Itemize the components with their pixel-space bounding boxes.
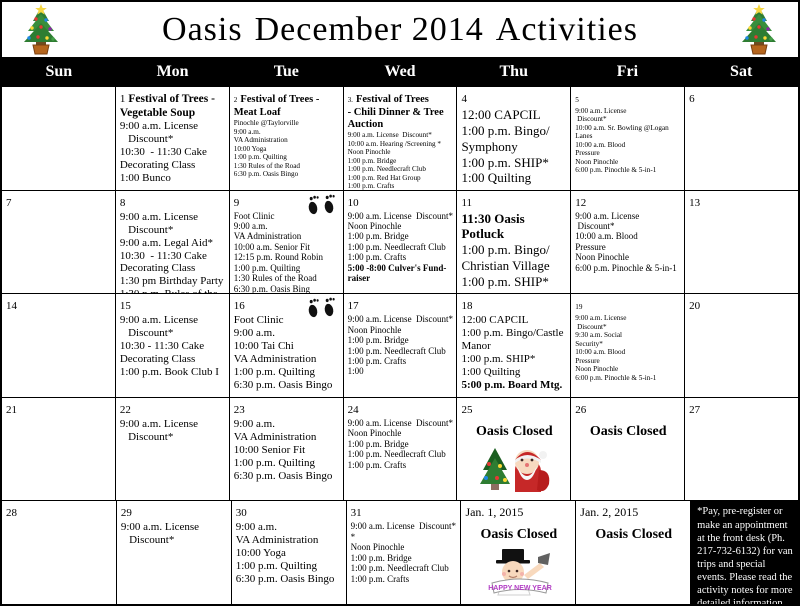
calendar-day-cell[interactable]: *Pay, pre-register or make an appointmen…: [691, 501, 798, 604]
day-event: 6:30 p.m. Oasis Bingo: [234, 379, 340, 392]
day-event: Noon Pinochle: [575, 365, 681, 373]
day-event: 1:30 pm Birthday Party: [120, 275, 226, 288]
calendar-day-cell[interactable]: 319:00 a.m. License Discount**Noon Pinoc…: [347, 501, 462, 604]
day-number: 16: [234, 300, 245, 312]
day-number: 25: [461, 404, 472, 416]
day-number: 23: [234, 404, 245, 416]
day-event-list: 9:00 a.m. License Discount*Noon Pinochle…: [348, 418, 454, 470]
day-event: 1:00: [348, 366, 454, 376]
day-event-list: 9:00 a.m. License Discount*: [120, 418, 226, 444]
calendar-day-cell[interactable]: 3.Festival of Trees - Chili Dinner & Tre…: [344, 87, 458, 190]
day-event: 5:00 -8:00 Culver's Fund-: [348, 263, 454, 273]
calendar-day-cell[interactable]: 7: [2, 191, 116, 294]
day-event: 6:30 p.m. Oasis Bing: [234, 284, 340, 294]
day-event: 1:00 p.m. SHIP*: [461, 353, 567, 366]
day-event: Discount*: [120, 431, 226, 444]
day-event: 1:00 p.m. Bridge: [348, 439, 454, 449]
day-event-list: 9:00 a.m. License Discount*10:00 a.m. Bl…: [575, 211, 681, 274]
day-event: Decorating Class: [120, 262, 226, 275]
day-event: 1:00 p.m. Quilting: [236, 560, 343, 573]
closed-label: Oasis Closed: [575, 424, 681, 440]
day-event: Noon Pinochle: [348, 325, 454, 335]
day-number: 30: [236, 507, 247, 519]
day-number: 6: [689, 93, 695, 105]
day-event: 9:00 a.m.: [236, 521, 343, 534]
day-event: 1:00 Bunco: [120, 172, 226, 185]
day-event: Discount*: [120, 133, 226, 146]
closed-label: Oasis Closed: [461, 424, 567, 440]
day-number: 5: [575, 96, 579, 104]
calendar-day-cell[interactable]: 179:00 a.m. License Discount*Noon Pinoch…: [344, 294, 458, 397]
calendar-week-row: 14159:00 a.m. License Discount*10:30 - 1…: [2, 294, 798, 398]
calendar-day-cell[interactable]: 16Foot Clinic9:00 a.m.10:00 Tai ChiVA Ad…: [230, 294, 344, 397]
calendar-day-cell[interactable]: 6: [685, 87, 798, 190]
calendar-day-cell[interactable]: 129:00 a.m. License Discount*10:00 a.m. …: [571, 191, 685, 294]
calendar-day-cell[interactable]: 109:00 a.m. License Discount*Noon Pinoch…: [344, 191, 458, 294]
day-event: 1:00 p.m. Needlecraft Club: [348, 242, 454, 252]
day-event: 5:00 p.m. Board Mtg.: [461, 379, 567, 392]
day-event: 1:00 p.m. Quilting: [234, 366, 340, 379]
calendar-day-cell[interactable]: 1111:30 Oasis Potluck1:00 p.m. Bingo/Chr…: [457, 191, 571, 294]
day-event: 1:00 Quilting: [461, 290, 567, 293]
calendar-day-cell[interactable]: 2Festival of Trees -Meat LoafPinochle @T…: [230, 87, 344, 190]
calendar-day-cell[interactable]: 159:00 a.m. License Discount*10:30 - 11:…: [116, 294, 230, 397]
day-heading-line: Festival of Trees: [356, 94, 429, 105]
page-title: OasisDecember 2014Activities: [162, 11, 638, 49]
day-event: 1:00 p.m. Needlecraft Club: [348, 449, 454, 459]
day-event-list: 12:00 CAPCIL1:00 p.m. Bingo/Symphony1:00…: [461, 107, 567, 186]
day-event: 1:00 p.m. Crafts: [348, 356, 454, 366]
day-event: 1:00 p.m. Bingo/Castle: [461, 327, 567, 340]
day-event: 6:00 p.m. Pinochle & 5-in-1: [575, 263, 681, 273]
title-part-org: Oasis: [162, 11, 243, 48]
day-event-list: 9:00 a.m. License Discount**Noon Pinochl…: [351, 521, 458, 584]
day-event: 9:00 a.m. License: [575, 107, 681, 115]
day-event: VA Administration: [234, 231, 340, 241]
day-event: Discount*: [121, 534, 228, 547]
day-event: 1:00 p.m. Crafts: [348, 460, 454, 470]
footprints-icon: [305, 296, 339, 322]
day-event: 1:30 Rules of the Road: [234, 162, 340, 170]
christmas-tree-icon: [732, 4, 786, 56]
day-event: 10:30 - 11:30 Cake: [120, 340, 226, 353]
calendar-day-cell[interactable]: 26Oasis Closed: [571, 398, 685, 501]
day-event: 9:00 a.m.: [234, 418, 340, 431]
day-event-list: 9:00 a.m.VA Administration10:00 Yoga1:00…: [236, 521, 343, 586]
day-event: Symphony: [461, 139, 567, 155]
day-event: 9:00 a.m. License: [120, 120, 226, 133]
day-event-list: Foot Clinic9:00 a.m.VA Administration10:…: [234, 211, 340, 294]
day-heading-line: Festival of Trees -: [240, 94, 319, 105]
day-event: 6:30 p.m. Oasis Bingo: [236, 573, 343, 586]
calendar-day-cell[interactable]: 14: [2, 294, 116, 397]
day-event: 1:00 p.m. Crafts: [348, 252, 454, 262]
dow-sat: Sat: [684, 57, 798, 87]
day-number: 7: [6, 197, 12, 209]
day-event: 9:00 a.m. License: [120, 314, 226, 327]
santa-with-tree-image: [475, 440, 553, 498]
calendar-day-cell[interactable]: 299:00 a.m. License Discount*: [117, 501, 232, 604]
day-event: Decorating Class: [120, 159, 226, 172]
day-event: 10:00 a.m. Blood: [575, 348, 681, 356]
day-event: 6:00 p.m. Pinochle & 5-in-1: [575, 374, 681, 382]
day-event: 10:00 a.m. Sr. Bowling @Logan: [575, 124, 681, 132]
day-number: 14: [6, 300, 17, 312]
day-event: 1:00 p.m. Needlecraft Club: [351, 563, 458, 573]
day-event: VA Administration: [234, 353, 340, 366]
day-event: 9:00 a.m. License: [575, 314, 681, 322]
day-heading-line: - Chili Dinner & Tree Auction: [348, 107, 454, 131]
day-number: 18: [461, 300, 472, 312]
day-event: 9:00 a.m. Legal Aid*: [120, 237, 226, 250]
day-event: Noon Pinochle: [348, 428, 454, 438]
day-number: 12: [575, 197, 586, 209]
day-event: 1:00 p.m. Bridge: [348, 335, 454, 345]
day-event: 6:30 p.m. Oasis Bingo: [234, 170, 340, 178]
footnote-box: *Pay, pre-register or make an appointmen…: [691, 501, 798, 604]
calendar-day-cell[interactable]: 9Foot Clinic9:00 a.m.VA Administration10…: [230, 191, 344, 294]
day-number: 11: [461, 197, 472, 209]
calendar-day-cell[interactable]: 21: [2, 398, 116, 501]
calendar-day-cell[interactable]: 59:00 a.m. License Discount*10:00 a.m. S…: [571, 87, 685, 190]
day-heading-line: Festival of Trees -: [128, 93, 215, 105]
day-event-list: Foot Clinic9:00 a.m.10:00 Tai ChiVA Admi…: [234, 314, 340, 392]
day-event: 6:30 p.m. Oasis Bingo: [234, 470, 340, 483]
day-event: 10:30 - 11:30 Cake: [120, 250, 226, 263]
day-number: 19: [575, 303, 582, 311]
closed-label: Oasis Closed: [465, 527, 572, 543]
day-event-list: 9:00 a.m.VA Administration10:00 Senior F…: [234, 418, 340, 483]
calendar-day-cell[interactable]: 20: [685, 294, 798, 397]
day-event: Noon Pinochle: [575, 252, 681, 262]
day-event: 10:00 Tai Chi: [234, 340, 340, 353]
day-event: 1:00 p.m. SHIP*: [461, 155, 567, 171]
day-event-list: 9:00 a.m. License Discount*10:30 - 11:30…: [120, 314, 226, 379]
closed-label: Oasis Closed: [580, 527, 687, 543]
day-event: 12:15 p.m. Round Robin: [234, 252, 340, 262]
day-event: 1:00 p.m. Quilting: [234, 263, 340, 273]
day-number: 24: [348, 404, 359, 416]
title-part-month: December 2014: [255, 11, 484, 48]
day-event: 1:00 p.m. Bingo/: [461, 123, 567, 139]
day-event: 1:00 p.m. SHIP*: [461, 274, 567, 290]
day-event-list: 9:00 a.m. License Discount*9:30 a.m. Soc…: [575, 314, 681, 382]
day-number: 2: [234, 96, 238, 104]
calendar-day-cell[interactable]: 89:00 a.m. License Discount*9:00 a.m. Le…: [116, 191, 230, 294]
dow-thu: Thu: [457, 57, 571, 87]
day-event: 10:00 a.m. Blood: [575, 141, 681, 149]
day-event: VA Administration: [234, 431, 340, 444]
day-event: 10:00 a.m. Senior Fit: [234, 242, 340, 252]
calendar-week-row: 28299:00 a.m. License Discount*309:00 a.…: [2, 501, 798, 604]
day-event: Discount*: [120, 224, 226, 237]
day-event: 1:00 p.m. Quilting: [234, 153, 340, 161]
title-part-suffix: Activities: [496, 11, 638, 48]
day-event: 10:00 a.m. Blood: [575, 231, 681, 241]
calendar-day-cell[interactable]: 25Oasis Closed: [457, 398, 571, 501]
day-event: Discount*: [575, 323, 681, 331]
day-event: 10:00 a.m. Hearing /Screening *: [348, 140, 454, 148]
day-event-list: Pinochle @Taylorville9:00 a.m.VA Adminis…: [234, 119, 340, 178]
day-number: 17: [348, 300, 359, 312]
day-event: 12:00 CAPCIL: [461, 314, 567, 327]
day-event-list: 9:00 a.m. License Discount*Noon Pinochle…: [348, 314, 454, 377]
day-event: 1:00 p.m. Book Club I: [120, 366, 226, 379]
day-event: 1:30 p.m. Rules of the Road: [120, 288, 226, 293]
calendar-day-cell[interactable]: 309:00 a.m.VA Administration10:00 Yoga1:…: [232, 501, 347, 604]
calendar-week-row: 789:00 a.m. License Discount*9:00 a.m. L…: [2, 191, 798, 295]
day-event: 11:30 Oasis Potluck: [461, 211, 567, 243]
day-event: VA Administration: [236, 534, 343, 547]
dow-wed: Wed: [343, 57, 457, 87]
day-event: 9:00 a.m. License Discount*: [348, 314, 454, 324]
day-event: 9:00 a.m.: [234, 327, 340, 340]
day-event-list: 11:30 Oasis Potluck1:00 p.m. Bingo/Chris…: [461, 211, 567, 294]
day-number: Jan. 1, 2015: [465, 505, 523, 519]
day-event: 9:00 a.m. License: [120, 211, 226, 224]
calendar-week-row: 21229:00 a.m. License Discount*239:00 a.…: [2, 398, 798, 502]
day-event: 1:00 p.m. Quilting: [234, 457, 340, 470]
calendar-day-cell[interactable]: 239:00 a.m.VA Administration10:00 Senior…: [230, 398, 344, 501]
day-number: 10: [348, 197, 359, 209]
day-event: Noon Pinochle: [575, 158, 681, 166]
calendar-week-row: 1Festival of Trees -Vegetable Soup9:00 a…: [2, 87, 798, 191]
day-event: 9:00 a.m. License: [575, 211, 681, 221]
day-event: Noon Pinochle: [351, 542, 458, 552]
day-event: 9:30 a.m. Social: [575, 331, 681, 339]
new-year-baby-image: HAPPY NEW YEAR: [480, 545, 558, 597]
day-event: Manor: [461, 340, 567, 353]
day-number: 8: [120, 197, 126, 209]
day-event: 1:00 p.m. Red Hat Group: [348, 174, 454, 182]
day-event: Discount*: [575, 115, 681, 123]
day-event: 1:00 Quilting: [461, 170, 567, 186]
day-heading-line: Vegetable Soup: [120, 107, 226, 120]
day-event: 1:00 p.m. Bridge: [348, 157, 454, 165]
calendar-day-cell[interactable]: 412:00 CAPCIL1:00 p.m. Bingo/Symphony1:0…: [457, 87, 571, 190]
day-number: 20: [689, 300, 700, 312]
day-event: 10:00 Yoga: [234, 145, 340, 153]
day-event: Discount*: [120, 327, 226, 340]
calendar-day-cell[interactable]: 27: [685, 398, 798, 501]
day-event: 9:00 a.m. License Discount*: [348, 211, 454, 221]
dow-fri: Fri: [571, 57, 685, 87]
day-event: Security*: [575, 340, 681, 348]
day-event-list: 12:00 CAPCIL1:00 p.m. Bingo/CastleManor1…: [461, 314, 567, 392]
day-number: 22: [120, 404, 131, 416]
christmas-tree-icon: [14, 4, 68, 56]
day-event: 1:00 p.m. Needlecraft Club: [348, 346, 454, 356]
day-event: Pressure: [575, 357, 681, 365]
day-number: 28: [6, 507, 17, 519]
calendar-day-cell[interactable]: Jan. 2, 2015Oasis Closed: [576, 501, 691, 604]
day-number: 9: [234, 197, 240, 209]
day-event: Pressure: [575, 149, 681, 157]
calendar-grid: 1Festival of Trees -Vegetable Soup9:00 a…: [0, 87, 800, 606]
svg-text:HAPPY NEW YEAR: HAPPY NEW YEAR: [488, 585, 552, 592]
day-number: 31: [351, 507, 362, 519]
day-number: Jan. 2, 2015: [580, 505, 638, 519]
day-event: 1:00 p.m. Needlecraft Club: [348, 165, 454, 173]
calendar: OasisDecember 2014Activities: [0, 0, 800, 606]
day-event: 9:00 a.m. License Discount*: [348, 131, 454, 139]
day-event-list: 9:00 a.m. License Discount*10:30 - 11:30…: [120, 120, 226, 185]
day-number: 13: [689, 197, 700, 209]
day-event: Christian Village: [461, 258, 567, 274]
calendar-day-cell[interactable]: 1Festival of Trees -Vegetable Soup9:00 a…: [116, 87, 230, 190]
day-number: 29: [121, 507, 132, 519]
day-event-list: 9:00 a.m. License Discount*9:00 a.m. Leg…: [120, 211, 226, 294]
calendar-day-cell[interactable]: 28: [2, 501, 117, 604]
day-of-week-header: Sun Mon Tue Wed Thu Fri Sat: [0, 57, 800, 87]
day-number: 26: [575, 404, 586, 416]
day-event: 10:00 Yoga: [236, 547, 343, 560]
day-event-list: 9:00 a.m. License Discount*10:00 a.m. He…: [348, 131, 454, 189]
day-event: 9:00 a.m. License Discount*: [351, 521, 458, 531]
day-event: 9:00 a.m.: [234, 221, 340, 231]
day-number: 21: [6, 404, 17, 416]
day-event: 12:00 CAPCIL: [461, 107, 567, 123]
day-event: VA Administration: [234, 136, 340, 144]
day-event: 9:00 a.m. License Discount*: [348, 418, 454, 428]
day-event: Lanes: [575, 132, 681, 140]
calendar-day-cell[interactable]: 249:00 a.m. License Discount*Noon Pinoch…: [344, 398, 458, 501]
calendar-day-cell[interactable]: 199:00 a.m. License Discount*9:30 a.m. S…: [571, 294, 685, 397]
day-event-list: 9:00 a.m. License Discount*Noon Pinochle…: [348, 211, 454, 284]
day-event: 1:00 p.m. Crafts: [351, 574, 458, 584]
day-event: Decorating Class: [120, 353, 226, 366]
day-event: 10:00 Senior Fit: [234, 444, 340, 457]
day-event: 9:00 a.m. License: [120, 418, 226, 431]
calendar-day-cell[interactable]: [2, 87, 116, 190]
day-event-list: 9:00 a.m. License Discount*10:00 a.m. Sr…: [575, 107, 681, 175]
day-event: 1:30 Rules of the Road: [234, 273, 340, 283]
day-event: raiser: [348, 273, 454, 283]
day-event: 9:00 a.m.: [234, 128, 340, 136]
day-number: 4: [461, 93, 467, 105]
dow-mon: Mon: [116, 57, 230, 87]
day-event: Pinochle @Taylorville: [234, 119, 340, 127]
day-number: 1: [120, 93, 126, 105]
calendar-day-cell[interactable]: 13: [685, 191, 798, 294]
day-heading-line: Meat Loaf: [234, 107, 340, 119]
dow-sun: Sun: [2, 57, 116, 87]
day-event: Pressure: [575, 242, 681, 252]
day-event: 1:00 Quilting: [461, 366, 567, 379]
calendar-day-cell[interactable]: Jan. 1, 2015Oasis ClosedHAPPY NEW YEAR: [461, 501, 576, 604]
day-number: 3.: [348, 96, 353, 104]
day-event: Noon Pinochle: [348, 221, 454, 231]
dow-tue: Tue: [229, 57, 343, 87]
day-event: 1:00 p.m. Bingo/: [461, 242, 567, 258]
day-event: 9:00 a.m. License: [121, 521, 228, 534]
day-event-list: 9:00 a.m. License Discount*: [121, 521, 228, 547]
day-event: 1:00 p.m. Crafts: [348, 182, 454, 189]
day-event: 1:00 p.m. Bridge: [348, 231, 454, 241]
calendar-day-cell[interactable]: 1812:00 CAPCIL1:00 p.m. Bingo/CastleMano…: [457, 294, 571, 397]
day-event: *: [351, 532, 458, 542]
day-event: 10:30 - 11:30 Cake: [120, 146, 226, 159]
footprints-icon: [305, 193, 339, 219]
calendar-day-cell[interactable]: 229:00 a.m. License Discount*: [116, 398, 230, 501]
day-number: 15: [120, 300, 131, 312]
day-number: 27: [689, 404, 700, 416]
day-event: Discount*: [575, 221, 681, 231]
day-event: 6:00 p.m. Pinochle & 5-in-1: [575, 166, 681, 174]
calendar-title-bar: OasisDecember 2014Activities: [0, 0, 800, 57]
day-event: Noon Pinochle: [348, 148, 454, 156]
day-event: 1:00 p.m. Bridge: [351, 553, 458, 563]
